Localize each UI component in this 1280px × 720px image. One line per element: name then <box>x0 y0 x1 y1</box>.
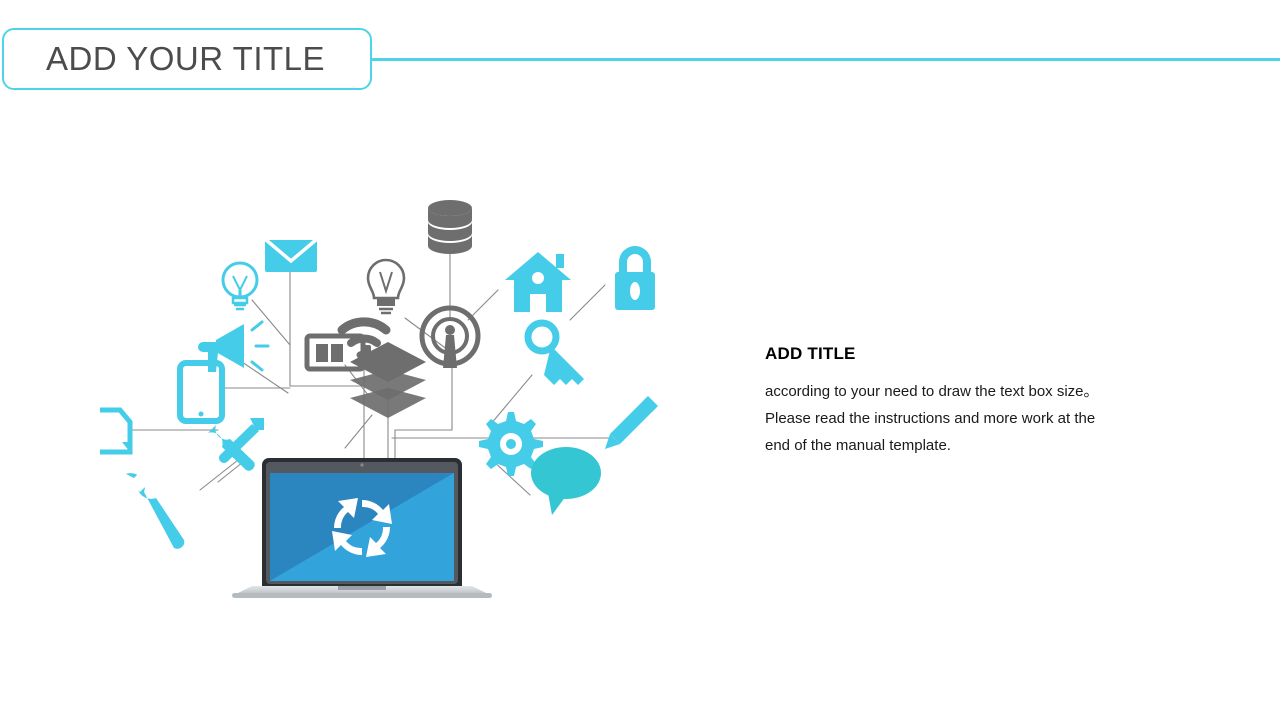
header-accent-rule <box>372 58 1280 61</box>
wrench-icon <box>126 472 184 549</box>
header-band: ADD YOUR TITLE <box>0 0 1280 100</box>
laptop-screen <box>270 473 454 581</box>
broadcast-antenna-icon <box>422 308 478 368</box>
technology-network-illustration <box>100 190 670 600</box>
lock-icon <box>615 246 655 310</box>
database-icon <box>428 200 472 254</box>
title-box[interactable]: ADD YOUR TITLE <box>2 28 372 90</box>
laptop <box>232 458 492 598</box>
pencil-icon <box>605 396 658 449</box>
speech-bubble-icon <box>531 447 601 515</box>
house-icon <box>505 252 571 312</box>
text-block-body: according to your need to draw the text … <box>765 378 1110 459</box>
envelope-icon <box>265 238 317 272</box>
key-icon <box>528 323 584 385</box>
tools-icon <box>208 418 264 471</box>
text-block-heading: ADD TITLE <box>765 344 1110 364</box>
document-icon <box>100 410 130 452</box>
text-block: ADD TITLE according to your need to draw… <box>765 344 1110 459</box>
lightbulb-outline-icon <box>223 263 257 309</box>
lightbulb-gray-icon <box>368 260 404 313</box>
page-title: ADD YOUR TITLE <box>46 40 325 78</box>
